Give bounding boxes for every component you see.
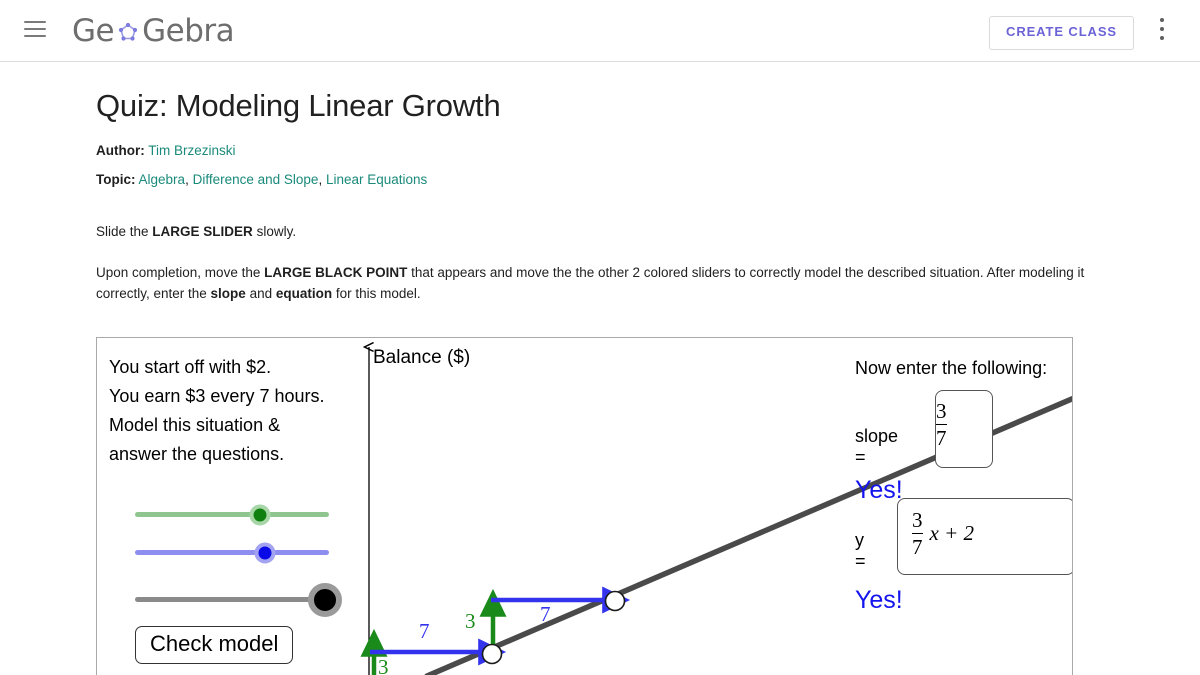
- topic-label: Topic:: [96, 172, 136, 187]
- model-point-1: [483, 645, 502, 664]
- rise-label-1: 3: [465, 609, 476, 633]
- instruction-emphasis: equation: [276, 286, 332, 301]
- run-label-2: 7: [540, 602, 551, 626]
- instruction-text: Upon completion, move the: [96, 265, 264, 280]
- kebab-menu-icon[interactable]: [1152, 18, 1172, 44]
- blue-slider-track[interactable]: [135, 550, 329, 555]
- green-slider-knob[interactable]: [250, 505, 271, 526]
- topic-link-difference-and-slope[interactable]: Difference and Slope: [193, 172, 319, 187]
- instruction-emphasis: slope: [211, 286, 246, 301]
- author-row: Author: Tim Brzezinski: [96, 143, 236, 158]
- author-link[interactable]: Tim Brzezinski: [148, 143, 235, 158]
- kebab-dot: [1160, 27, 1164, 31]
- topic-separator: ,: [185, 172, 189, 187]
- slope-numerator: 3: [936, 400, 947, 422]
- slope-input-box[interactable]: 3 7: [935, 390, 993, 468]
- equation-denominator: 7: [912, 536, 923, 558]
- blue-slider[interactable]: [135, 542, 329, 564]
- topic-link-linear-equations[interactable]: Linear Equations: [326, 172, 427, 187]
- instruction-text: slowly.: [253, 224, 296, 239]
- green-slider[interactable]: [135, 504, 329, 526]
- create-class-button[interactable]: CREATE CLASS: [989, 16, 1134, 50]
- instruction-text: for this model.: [332, 286, 421, 301]
- geogebra-pentagon-icon: [115, 18, 141, 44]
- page-title: Quiz: Modeling Linear Growth: [96, 88, 500, 124]
- answer-prompt: Now enter the following:: [855, 358, 1047, 379]
- scenario-line: You start off with $2.: [109, 353, 359, 382]
- kebab-dot: [1160, 18, 1164, 22]
- slope-denominator: 7: [936, 427, 947, 449]
- topic-link-algebra[interactable]: Algebra: [139, 172, 186, 187]
- hamburger-line: [24, 35, 46, 37]
- equation-label: y =: [855, 530, 866, 572]
- kebab-dot: [1160, 36, 1164, 40]
- logo-text-after: Gebra: [142, 13, 234, 49]
- gray-slider-knob[interactable]: [308, 583, 342, 617]
- topic-separator: ,: [318, 172, 322, 187]
- scenario-line: You earn $3 every 7 hours.: [109, 382, 359, 411]
- slope-label: slope =: [855, 426, 898, 468]
- scenario-line: Model this situation &: [109, 411, 359, 440]
- equation-tail: x + 2: [930, 521, 975, 546]
- blue-slider-knob[interactable]: [255, 543, 276, 564]
- app-header: GeGebra CREATE CLASS: [0, 0, 1200, 62]
- geogebra-applet[interactable]: 7 3 7 3 Balance ($) You start off with $…: [96, 337, 1073, 675]
- slope-fraction: 3 7: [936, 400, 947, 449]
- topic-row: Topic: Algebra, Difference and Slope, Li…: [96, 172, 427, 187]
- gray-large-slider[interactable]: [135, 583, 329, 617]
- hamburger-menu-icon[interactable]: [24, 21, 46, 39]
- instruction-emphasis: LARGE SLIDER: [152, 224, 253, 239]
- author-label: Author:: [96, 143, 145, 158]
- geogebra-logo[interactable]: GeGebra: [72, 11, 234, 51]
- instruction-text: and: [246, 286, 276, 301]
- fraction-bar: [912, 533, 923, 534]
- instruction-text: Slide the: [96, 224, 152, 239]
- instruction-paragraph-2: Upon completion, move the LARGE BLACK PO…: [96, 262, 1101, 304]
- equation-feedback: Yes!: [855, 586, 903, 615]
- y-axis-label: Balance ($): [373, 347, 470, 369]
- check-model-button[interactable]: Check model: [135, 626, 293, 664]
- green-slider-track[interactable]: [135, 512, 329, 517]
- scenario-text: You start off with $2. You earn $3 every…: [109, 353, 359, 469]
- slope-feedback: Yes!: [855, 476, 903, 505]
- hamburger-line: [24, 28, 46, 30]
- logo-text-before: Ge: [72, 13, 114, 49]
- run-label-1: 7: [419, 619, 430, 643]
- instruction-paragraph-1: Slide the LARGE SLIDER slowly.: [96, 221, 1101, 242]
- model-point-2: [606, 592, 625, 611]
- hamburger-line: [24, 21, 46, 23]
- scenario-line: answer the questions.: [109, 440, 359, 469]
- instruction-emphasis: LARGE BLACK POINT: [264, 265, 407, 280]
- rise-label-0: 3: [378, 655, 389, 675]
- fraction-bar: [936, 424, 947, 425]
- equation-input-box[interactable]: 3 7 x + 2: [897, 498, 1073, 575]
- gray-slider-track[interactable]: [135, 597, 329, 602]
- equation-numerator: 3: [912, 509, 923, 531]
- equation-fraction: 3 7: [912, 509, 923, 558]
